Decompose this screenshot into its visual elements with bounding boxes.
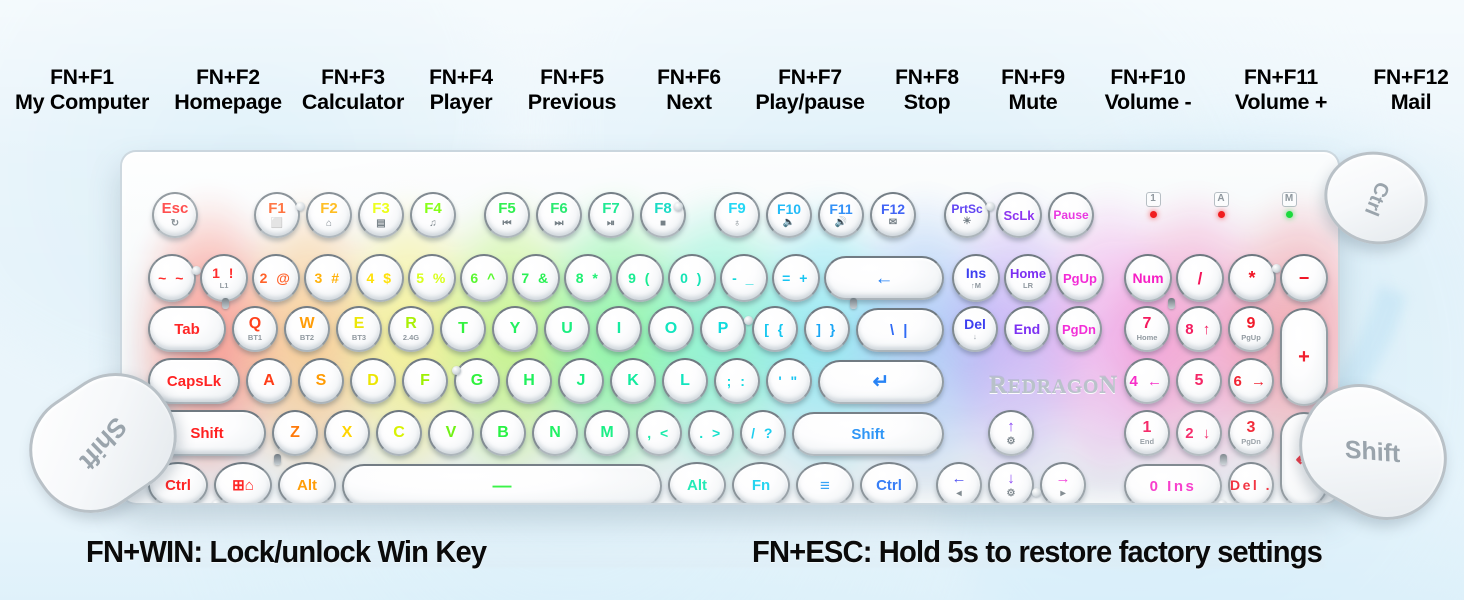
key-legend: J (577, 373, 586, 389)
fn-legend-item-f1: FN+F1My Computer (15, 66, 149, 114)
plate-screw (986, 202, 995, 211)
fn-legend-action: Mail (1373, 90, 1448, 114)
fn-legend-item-f8: FN+F8Stop (895, 66, 959, 114)
key-key[interactable]: ' " (766, 358, 812, 404)
fn-legend-action: Homepage (174, 90, 282, 114)
key-ins[interactable]: Ins↑M (952, 254, 1000, 302)
key-function-icon: ⬜ (271, 219, 283, 229)
key-function-icon: ♫ (429, 219, 437, 229)
key-key[interactable]: [ { (752, 306, 798, 352)
key-legend: F7 (602, 201, 620, 216)
key-legend: E (354, 316, 365, 332)
key-legend: 5 % (416, 271, 448, 285)
fn-legend-combo: FN+F7 (755, 66, 864, 90)
key-y[interactable]: Y (492, 306, 538, 352)
key-5[interactable]: 5 % (408, 254, 456, 302)
key-f9[interactable]: F9♁ (714, 192, 760, 238)
key-sublegend: 2.4G (403, 334, 419, 342)
key-legend: Esc (162, 201, 189, 216)
key-legend: / (1198, 270, 1203, 287)
key-legend: * (1248, 269, 1255, 287)
key-r[interactable]: R2.4G (388, 306, 434, 352)
fn-legend-item-f12: FN+F12Mail (1373, 66, 1448, 114)
key-function-icon: 🔈 (783, 218, 795, 228)
plate-screw (1032, 488, 1041, 497)
key-v[interactable]: V (428, 410, 474, 456)
key-legend: 4 $ (367, 271, 394, 285)
key-pgdn[interactable]: PgDn (1056, 306, 1102, 352)
key-b[interactable]: B (480, 410, 526, 456)
key-k[interactable]: K (610, 358, 656, 404)
indicator-mode: M (1276, 192, 1302, 218)
key-shift[interactable]: Shift (792, 412, 944, 456)
key-legend: S (316, 373, 327, 389)
plate-screw (674, 202, 683, 211)
key-legend: 8 ↑ (1185, 322, 1213, 337)
key-f1[interactable]: F1⬜ (254, 192, 300, 238)
key-key[interactable]: / (1176, 254, 1224, 302)
key-legend: F2 (320, 201, 338, 216)
key-f5[interactable]: F5⏮ (484, 192, 530, 238)
key-f10[interactable]: F10🔈 (766, 192, 812, 238)
key-legend: Num (1132, 271, 1163, 285)
indicator-label: A (1214, 192, 1229, 207)
key-sublegend: Home (1137, 334, 1158, 342)
fn-legend-item-f2: FN+F2Homepage (174, 66, 282, 114)
key-o[interactable]: O (648, 306, 694, 352)
key-x[interactable]: X (324, 410, 370, 456)
key-4[interactable]: 4 ← (1124, 358, 1170, 404)
key-legend: - _ (732, 271, 756, 285)
key-legend: F6 (550, 201, 568, 216)
brand-logo: REDRAGON (989, 372, 1118, 400)
fn-legend-item-f10: FN+F10Volume - (1105, 66, 1192, 114)
key-legend: F3 (372, 201, 390, 216)
key-legend: F9 (728, 201, 746, 216)
key-function-icon: ⚙ (1007, 437, 1016, 447)
key-legend: PrtSc (951, 203, 982, 215)
key-legend: X (342, 425, 353, 441)
key-legend: L (680, 373, 690, 389)
fn-legend-item-f3: FN+F3Calculator (302, 66, 404, 114)
key-legend: ← (952, 471, 967, 486)
key-function-icon: ↻ (171, 219, 179, 229)
key-del[interactable]: Del↓ (952, 306, 998, 352)
fn-legend-combo: FN+F2 (174, 66, 282, 90)
key-sublegend: PgUp (1241, 334, 1261, 342)
key-f4[interactable]: F4♫ (410, 192, 456, 238)
key-esc[interactable]: Esc↻ (152, 192, 198, 238)
key-legend: Fn (752, 478, 770, 493)
key-f12[interactable]: F12✉ (870, 192, 916, 238)
key-legend: − (1299, 269, 1310, 287)
key-legend: O (665, 321, 677, 337)
key-legend: Y (510, 321, 521, 337)
indicator-num-lock: 1 (1140, 192, 1166, 218)
key-legend: ; : (727, 374, 748, 388)
key-sublegend: PgDn (1241, 438, 1261, 446)
key-s[interactable]: S (298, 358, 344, 404)
key-legend: G (471, 373, 483, 389)
key-function-icon: ⌂ (326, 219, 332, 229)
key-tab[interactable]: Tab (148, 306, 226, 352)
key-legend: Ctrl (165, 478, 191, 493)
key-legend: 7 & (521, 271, 550, 285)
key-legend: W (299, 316, 314, 332)
key-g[interactable]: G (454, 358, 500, 404)
key-sublegend: ↑M (971, 282, 981, 290)
key-legend: Tab (174, 322, 200, 337)
indicator-caps-lock: A (1208, 192, 1234, 218)
key-f2[interactable]: F2⌂ (306, 192, 352, 238)
key-f3[interactable]: F3▤ (358, 192, 404, 238)
key-legend: 0 ) (680, 271, 704, 285)
key-legend: — (493, 477, 512, 496)
key-t[interactable]: T (440, 306, 486, 352)
key-legend: Alt (687, 478, 707, 493)
key-legend: 9 (1247, 316, 1256, 332)
plate-stud (222, 298, 229, 309)
key-legend: F10 (777, 202, 801, 216)
key-sublegend: BT1 (248, 334, 262, 342)
key-num[interactable]: Num (1124, 254, 1172, 302)
key-3[interactable]: 3PgDn (1228, 410, 1274, 456)
key-sublegend: BT2 (300, 334, 314, 342)
key-alt[interactable]: Alt (278, 462, 336, 505)
key-legend: 1 (1143, 420, 1152, 436)
fn-legend-action: Volume + (1235, 90, 1327, 114)
key-legend: 2 @ (260, 271, 293, 285)
key-legend: F5 (498, 201, 516, 216)
indicator-led (1286, 211, 1293, 218)
key-legend: = + (782, 271, 810, 285)
key-legend: K (627, 373, 639, 389)
plate-stud (850, 298, 857, 309)
plate-stud (1220, 454, 1227, 465)
fn-legend-combo: FN+F10 (1105, 66, 1192, 90)
key-legend: I (617, 321, 621, 337)
key-key[interactable]: − (1280, 254, 1328, 302)
fn-legend-combo: FN+F12 (1373, 66, 1448, 90)
key-legend: 4 ← (1129, 374, 1164, 389)
key-legend: N (549, 425, 561, 441)
fn-legend-action: Next (657, 90, 721, 114)
key-2[interactable]: 2 @ (252, 254, 300, 302)
key-f7[interactable]: F7⏯ (588, 192, 634, 238)
fn-legend-combo: FN+F9 (1001, 66, 1065, 90)
key-legend: , < (647, 426, 670, 440)
key-legend: PgUp (1063, 272, 1097, 285)
key-f6[interactable]: F6⏭ (536, 192, 582, 238)
key-pgup[interactable]: PgUp (1056, 254, 1104, 302)
key-legend: A (263, 373, 275, 389)
key-legend: Z (290, 425, 300, 441)
key-legend: ] } (816, 322, 838, 336)
key-f8[interactable]: F8■ (640, 192, 686, 238)
key-key[interactable]: ; : (714, 358, 760, 404)
fn-legend-item-f9: FN+F9Mute (1001, 66, 1065, 114)
key-1[interactable]: 1End (1124, 410, 1170, 456)
key-4[interactable]: 4 $ (356, 254, 404, 302)
key-sublegend: End (1140, 438, 1154, 446)
key-legend: V (446, 425, 457, 441)
key-end[interactable]: End (1004, 306, 1050, 352)
key-legend: Alt (297, 478, 317, 493)
key-legend: 9 ( (628, 271, 652, 285)
plate-screw (212, 500, 221, 505)
key-legend: F12 (881, 202, 905, 216)
key-legend: T (458, 321, 468, 337)
keycap-label: Shift (74, 410, 133, 477)
fn-legend-action: Calculator (302, 90, 404, 114)
keyboard-plate: Esc↻F1⬜F2⌂F3▤F4♫F5⏮F6⏭F7⏯F8■F9♁F10🔈F11🔊F… (134, 170, 1326, 493)
key-i[interactable]: I (596, 306, 642, 352)
key-legend: 3 # (315, 271, 342, 285)
key-key[interactable]: * (1228, 254, 1276, 302)
key-f11[interactable]: F11🔊 (818, 192, 864, 238)
key-legend: 8 * (576, 271, 601, 285)
key-legend: CapsLk (167, 374, 221, 389)
fn-legend-action: My Computer (15, 90, 149, 114)
key-legend: P (718, 321, 729, 337)
key-legend: End (1014, 322, 1040, 336)
key-6[interactable]: 6 → (1228, 358, 1274, 404)
key-function-icon: ⏭ (555, 219, 564, 229)
key-legend: . > (699, 426, 722, 440)
key-function-icon: ◂ (956, 489, 961, 499)
key-key[interactable]: . > (688, 410, 734, 456)
caption-win-lock: FN+WIN: Lock/unlock Win Key (86, 534, 486, 570)
key-function-icon: ▤ (376, 219, 385, 229)
fn-legend-combo: FN+F6 (657, 66, 721, 90)
key-n[interactable]: N (532, 410, 578, 456)
plate-screw (744, 316, 753, 325)
key-legend: / ? (751, 426, 775, 440)
key-sublegend: BT3 (352, 334, 366, 342)
key-legend: H (523, 373, 535, 389)
fn-legend-action: Previous (528, 90, 616, 114)
fn-legend-item-f7: FN+F7Play/pause (755, 66, 864, 114)
fn-legend-item-f11: FN+F11Volume + (1235, 66, 1327, 114)
plate-screw (1272, 264, 1281, 273)
indicator-led (1218, 211, 1225, 218)
key-z[interactable]: Z (272, 410, 318, 456)
key-c[interactable]: C (376, 410, 422, 456)
indicator-led (1150, 211, 1157, 218)
key-7[interactable]: 7 & (512, 254, 560, 302)
key-f[interactable]: F (402, 358, 448, 404)
key-legend: + (1298, 347, 1310, 367)
key-key[interactable]: / ? (740, 410, 786, 456)
key-legend: ← (875, 269, 894, 288)
key-0-ins[interactable]: 0 Ins (1124, 464, 1222, 505)
key-key[interactable]: = + (772, 254, 820, 302)
key-function-icon: ■ (660, 219, 666, 229)
key-legend: 6 ^ (470, 271, 497, 285)
key-9[interactable]: 9PgUp (1228, 306, 1274, 352)
key-legend: Del (964, 317, 986, 331)
key-legend: U (561, 321, 573, 337)
key-function-icon: ♁ (733, 219, 741, 229)
key-legend: F4 (424, 201, 442, 216)
key-a[interactable]: A (246, 358, 292, 404)
key-key[interactable]: ~ ~ (148, 254, 196, 302)
fn-legend-combo: FN+F8 (895, 66, 959, 90)
key-legend: F (420, 373, 430, 389)
key-function-icon: ⏯ (607, 219, 615, 229)
key-legend: 2 ↓ (1185, 426, 1213, 441)
key-legend: F11 (829, 202, 852, 216)
key-legend: C (393, 425, 405, 441)
fn-legend-action: Mute (1001, 90, 1065, 114)
key-q[interactable]: QBT1 (232, 306, 278, 352)
key-legend: M (600, 425, 613, 441)
key-legend: Shift (851, 427, 884, 442)
key-8[interactable]: 8 * (564, 254, 612, 302)
fn-legend-combo: FN+F4 (429, 66, 493, 90)
key-9[interactable]: 9 ( (616, 254, 664, 302)
plate-stud (1168, 298, 1175, 309)
key-legend: 3 (1247, 420, 1256, 436)
key-key[interactable]: \ | (856, 308, 944, 352)
plate-screw (296, 202, 305, 211)
plate-screw (452, 366, 461, 375)
plate-stud (274, 454, 281, 465)
key-legend: 6 → (1233, 374, 1268, 389)
key-m[interactable]: M (584, 410, 630, 456)
keycap-label: Ctrl (1359, 178, 1393, 219)
key-key[interactable]: ↓⚙ (988, 462, 1034, 505)
fn-legend-combo: FN+F11 (1235, 66, 1327, 90)
key-legend: ~ ~ (158, 271, 186, 285)
key-5[interactable]: 5 (1176, 358, 1222, 404)
key-fn[interactable]: Fn (732, 462, 790, 505)
fn-legend-action: Volume - (1105, 90, 1192, 114)
key-del[interactable]: Del . (1228, 462, 1274, 505)
key-key[interactable]: ↑⚙ (988, 410, 1034, 456)
fn-legend-action: Stop (895, 90, 959, 114)
fn-legend-item-f5: FN+F5Previous (528, 66, 616, 114)
key-legend: Ins (966, 266, 986, 280)
key-sublegend: ↓ (973, 333, 977, 341)
key-j[interactable]: J (558, 358, 604, 404)
key-function-icon: 🔊 (835, 218, 847, 228)
key-8[interactable]: 8 ↑ (1176, 306, 1222, 352)
key-key[interactable]: →▸ (1040, 462, 1086, 505)
key-alt[interactable]: Alt (668, 462, 726, 505)
key-legend: D (367, 373, 379, 389)
keycap-label: Shift (1345, 435, 1401, 469)
key-function-icon: ⚙ (1007, 489, 1016, 499)
key-7[interactable]: 7Home (1124, 306, 1170, 352)
key-legend: F1 (268, 201, 286, 216)
bottom-captions: FN+WIN: Lock/unlock Win Key FN+ESC: Hold… (0, 534, 1464, 584)
key-p[interactable]: P (700, 306, 746, 352)
key-key[interactable]: — (342, 464, 662, 505)
key-legend: ↓ (1007, 471, 1015, 486)
key-d[interactable]: D (350, 358, 396, 404)
key-legend: ⊞⌂ (232, 478, 254, 493)
key-key[interactable]: ← (824, 256, 944, 300)
fn-legend-combo: FN+F3 (302, 66, 404, 90)
key-pause[interactable]: Pause (1048, 192, 1094, 238)
key-key[interactable]: ] } (804, 306, 850, 352)
plate-screw (192, 266, 201, 275)
key-l[interactable]: L (662, 358, 708, 404)
key-legend: ScLk (1003, 209, 1034, 222)
key-2[interactable]: 2 ↓ (1176, 410, 1222, 456)
fn-legend-item-f6: FN+F6Next (657, 66, 721, 114)
key-1[interactable]: 1 !L1 (200, 254, 248, 302)
key-legend: Q (249, 316, 261, 332)
key-legend: 7 (1143, 316, 1152, 332)
fn-legend-action: Play/pause (755, 90, 864, 114)
key-legend: [ { (764, 322, 786, 336)
key-key[interactable]: - _ (720, 254, 768, 302)
fn-legend-combo: FN+F1 (15, 66, 149, 90)
key-function-icon: ✉ (889, 218, 897, 228)
key-legend: Pause (1053, 209, 1088, 221)
key-key[interactable]: ←◂ (936, 462, 982, 505)
key-3[interactable]: 3 # (304, 254, 352, 302)
key-legend: ↑ (1007, 419, 1015, 434)
key-h[interactable]: H (506, 358, 552, 404)
key-legend: Ctrl (876, 478, 902, 493)
indicator-label: M (1282, 192, 1297, 207)
keyboard-body: Esc↻F1⬜F2⌂F3▤F4♫F5⏮F6⏭F7⏯F8■F9♁F10🔈F11🔊F… (120, 150, 1340, 505)
key-sublegend: L1 (220, 282, 229, 290)
plate-screw (1218, 500, 1227, 505)
key-0[interactable]: 0 ) (668, 254, 716, 302)
key-home[interactable]: HomeLR (1004, 254, 1052, 302)
key-legend: B (497, 425, 509, 441)
key-legend: → (1056, 471, 1071, 486)
key-w[interactable]: WBT2 (284, 306, 330, 352)
key-legend: PgDn (1062, 323, 1096, 336)
key-legend: 5 (1195, 373, 1204, 389)
key-u[interactable]: U (544, 306, 590, 352)
key-legend: Home (1010, 267, 1046, 280)
key-e[interactable]: EBT3 (336, 306, 382, 352)
key-legend: F8 (654, 201, 672, 216)
key-legend: ≡ (820, 477, 830, 494)
key-legend: 0 Ins (1150, 479, 1197, 494)
key-prtsc[interactable]: PrtSc☀ (944, 192, 990, 238)
key-legend: Shift (190, 426, 223, 441)
key-legend: Del . (1230, 478, 1272, 492)
key-legend: ' " (778, 374, 799, 388)
key-key[interactable]: ⊞⌂ (214, 462, 272, 505)
indicator-label: 1 (1146, 192, 1161, 207)
key-function-icon: ⏮ (503, 219, 512, 229)
key-legend: ↵ (873, 372, 890, 392)
key-sclk[interactable]: ScLk (996, 192, 1042, 238)
key-key[interactable]: ↵ (818, 360, 944, 404)
caption-factory-reset: FN+ESC: Hold 5s to restore factory setti… (752, 534, 1322, 570)
fn-legend-action: Player (429, 90, 493, 114)
key-key[interactable]: , < (636, 410, 682, 456)
key-matrix: Esc↻F1⬜F2⌂F3▤F4♫F5⏮F6⏭F7⏯F8■F9♁F10🔈F11🔊F… (134, 170, 1326, 493)
key-6[interactable]: 6 ^ (460, 254, 508, 302)
key-legend: R (405, 316, 417, 332)
fn-legend-combo: FN+F5 (528, 66, 616, 90)
key-legend: \ | (890, 323, 910, 338)
key-ctrl[interactable]: Ctrl (860, 462, 918, 505)
fn-shortcut-legend: FN+F1My ComputerFN+F2HomepageFN+F3Calcul… (0, 66, 1464, 136)
key-function-icon: ☀ (963, 217, 972, 227)
key-legend: 1 ! (212, 266, 236, 280)
key-key[interactable]: ≡ (796, 462, 854, 505)
